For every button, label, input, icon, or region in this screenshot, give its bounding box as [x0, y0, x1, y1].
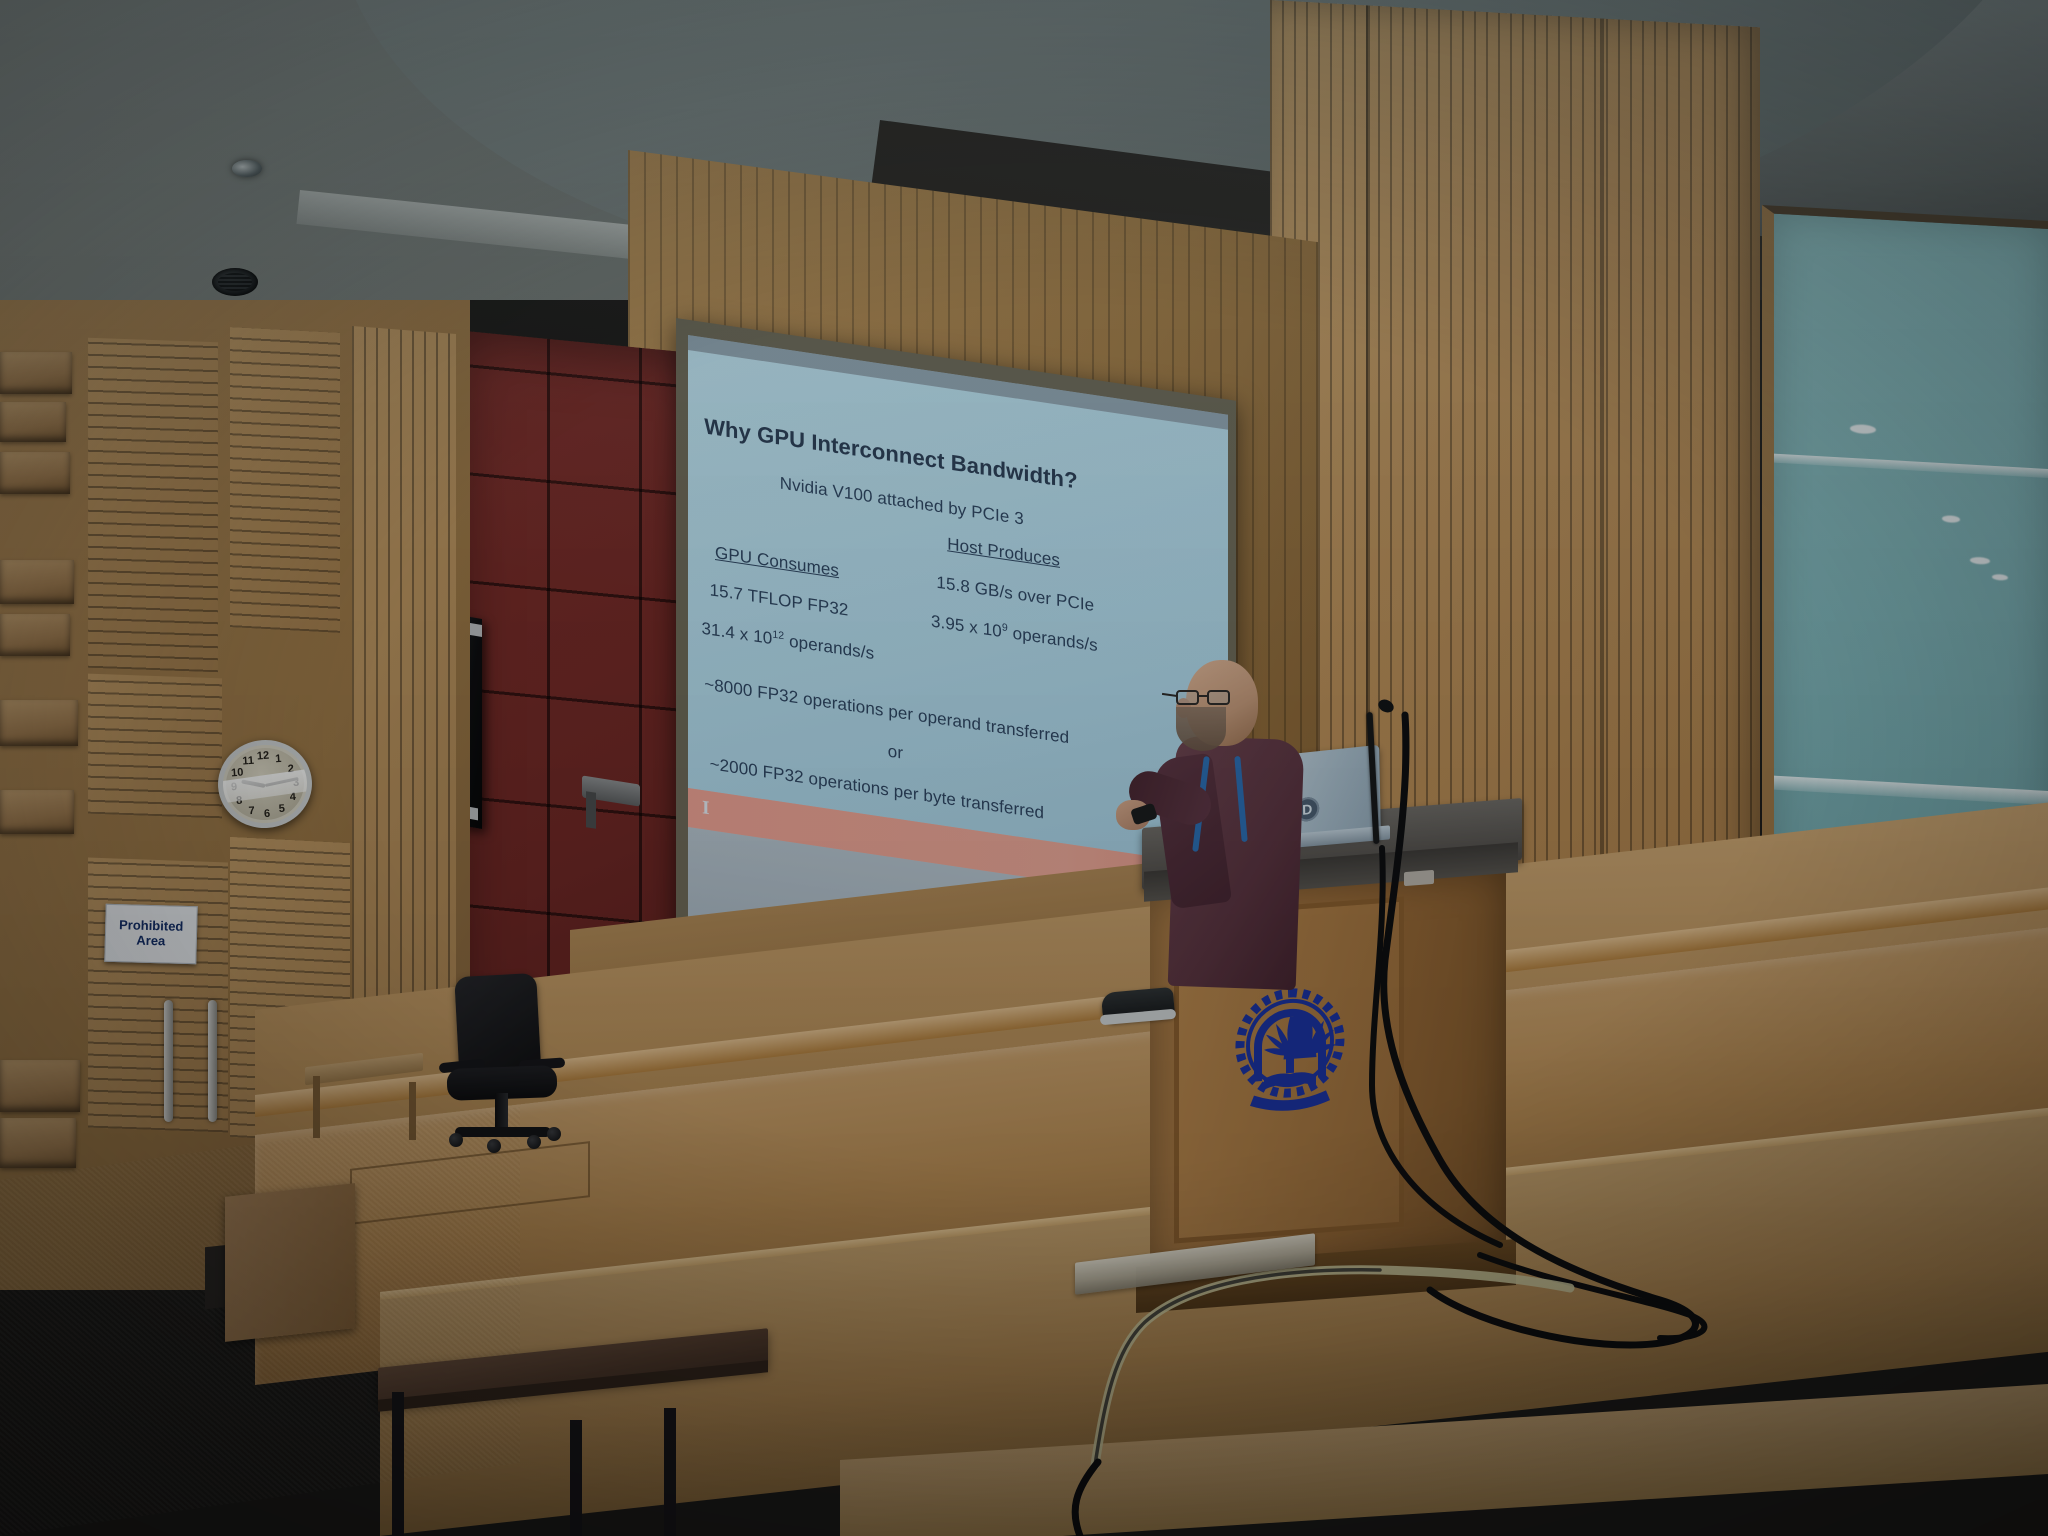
side-table-leg	[313, 1076, 320, 1138]
table-leg	[570, 1420, 582, 1536]
lectern-control-panel[interactable]	[1404, 870, 1434, 886]
window-light-reflection	[1850, 424, 1876, 434]
ceiling-speaker-icon	[212, 268, 258, 296]
wall-shelf-block	[0, 352, 72, 394]
left-slat-panel-lower	[88, 858, 228, 1133]
window-light-reflection	[1992, 574, 2008, 581]
eyeglass-bridge	[1199, 695, 1209, 697]
wall-shelf-block	[0, 700, 78, 746]
window-light-reflection	[1774, 454, 2048, 478]
wall-bracket-arm	[586, 791, 596, 829]
chair-caster	[527, 1135, 541, 1149]
wall-shelf-block	[0, 1060, 80, 1112]
small-side-table	[305, 1060, 425, 1160]
foreground-table	[378, 1348, 768, 1536]
chair-caster	[547, 1127, 561, 1141]
window-light-reflection	[1942, 515, 1960, 523]
chair-caster	[487, 1139, 501, 1153]
clock-numeral: 7	[248, 805, 255, 817]
left-slat-panel-right-upper	[230, 327, 340, 633]
side-table-leg	[409, 1082, 416, 1140]
wall-shelf-block	[0, 452, 70, 494]
wall-shelf-block	[0, 614, 70, 656]
wall-shelf-block	[0, 560, 74, 604]
ceiling-downlight-icon	[232, 160, 262, 177]
wall-shelf-block	[0, 402, 66, 442]
lecture-hall-photo: Prohibited Area 12 1 2 3 4 5 6 7 8 9 10 …	[0, 0, 2048, 1536]
clock-numeral: 6	[264, 807, 271, 819]
presenter	[1110, 660, 1340, 1260]
sign-line-2: Area	[136, 934, 165, 950]
door-handle[interactable]	[208, 1000, 217, 1122]
slide-conclusion-line-2: or	[888, 741, 903, 763]
chair-caster	[449, 1133, 463, 1147]
clock-numeral: 10	[231, 766, 244, 779]
slide-left-line-2-exponent: 12	[772, 628, 784, 642]
wall-shelf-block	[0, 790, 74, 834]
stage-side-box	[225, 1183, 355, 1342]
door-handle[interactable]	[164, 1000, 173, 1122]
clock-numeral: 12	[257, 750, 270, 763]
table-leg	[664, 1408, 676, 1536]
window-light-reflection	[1774, 776, 2048, 805]
left-slat-panel-mid	[88, 674, 222, 819]
left-slat-panel-upper	[88, 338, 218, 673]
clock-numeral: 11	[242, 755, 254, 768]
eyeglasses-icon	[1176, 690, 1234, 706]
prohibited-area-sign: Prohibited Area	[104, 904, 197, 964]
speaker-mount-bracket	[468, 623, 482, 637]
wall-shelf-block	[0, 1118, 76, 1168]
slide-footer-logo: I	[699, 796, 713, 819]
clock-numeral: 1	[275, 753, 282, 765]
window-light-reflection	[1970, 557, 1990, 565]
table-leg	[392, 1392, 404, 1536]
office-chair	[435, 975, 575, 1170]
eyeglass-lens	[1176, 690, 1199, 705]
eyeglass-lens	[1207, 690, 1230, 705]
clock-numeral: 5	[278, 802, 285, 814]
